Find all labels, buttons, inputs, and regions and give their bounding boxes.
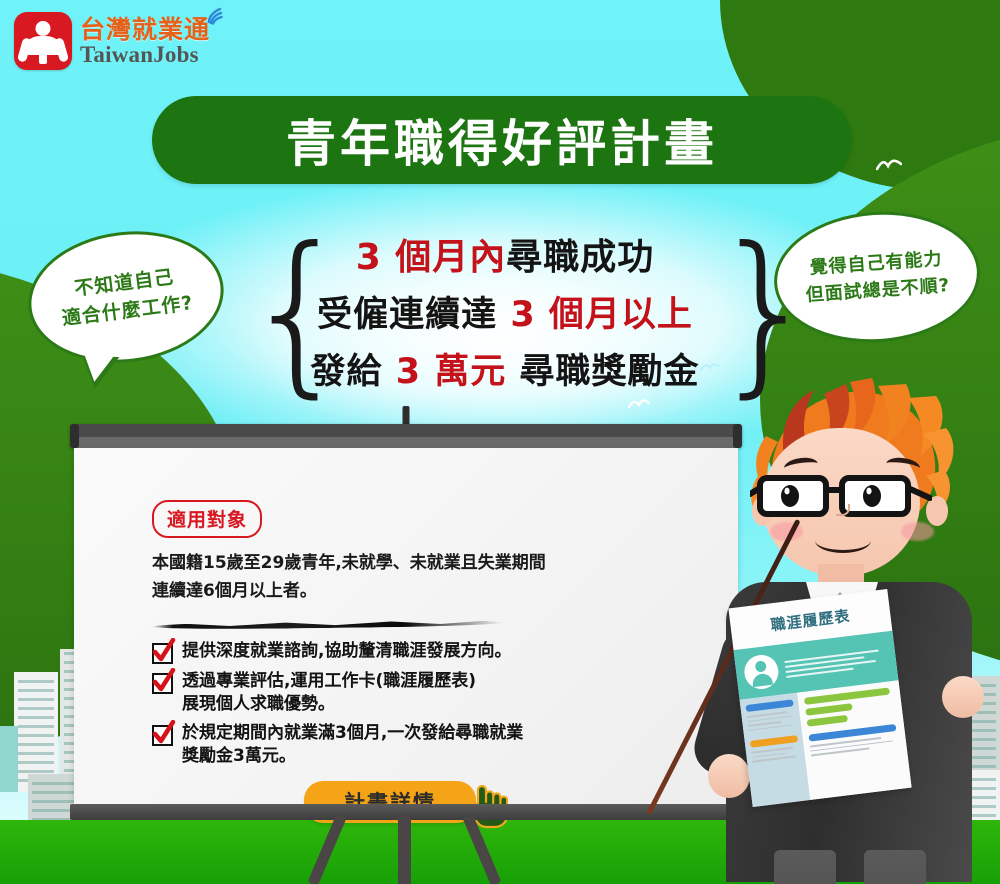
list-item: 提供深度就業諮詢,協助釐清職涯發展方向。: [152, 640, 738, 664]
page-title-banner: 青年職得好評計畫: [152, 96, 852, 184]
list-item-text-line1: 於規定期間內就業滿3個月,一次發給尋職就業: [182, 723, 523, 743]
list-item: 透過專業評估,運用工作卡(職涯履歷表) 展現個人求職優勢。: [152, 670, 738, 716]
checkbox-checked-icon: [152, 673, 173, 694]
highlight-line-3-post: 尋職獎勵金: [506, 352, 699, 392]
list-item-text-line1: 透過專業評估,運用工作卡(職涯履歷表): [182, 671, 476, 691]
eligibility-line-2: 連續達6個月以上者。: [152, 577, 738, 605]
mouth: [815, 528, 871, 553]
brand-name-cn: 台灣就業通: [80, 17, 210, 42]
highlight-line-1: 3 個月內尋職成功: [356, 228, 655, 280]
resume-body: [740, 680, 912, 807]
highlight-line-2-accent: 3 個月以上: [510, 295, 693, 335]
tripod-leg-center: [398, 816, 411, 884]
highlight-line-1-post: 尋職成功: [506, 237, 654, 278]
page-title: 青年職得好評計畫: [286, 104, 718, 176]
bubble-tail-inner: [84, 356, 113, 383]
highlight-lines: 3 個月內尋職成功 受僱連續達 3 個月以上 發給 3 萬元 尋職獎勵金: [255, 228, 755, 394]
trouser-left: [774, 850, 836, 884]
resume-right-column: [797, 680, 911, 800]
screen-hook: [403, 406, 410, 426]
eligibility-text: 本國籍15歲至29歲青年,未就學、未就業且失業期間 連續達6個月以上者。: [152, 549, 738, 605]
checkbox-checked-icon: [152, 725, 173, 746]
list-item: 於規定期間內就業滿3個月,一次發給尋職就業 獎勵金3萬元。: [152, 722, 738, 768]
checkbox-checked-icon: [152, 643, 173, 664]
hand-holding-resume: [942, 676, 984, 718]
list-item-text-line2: 獎勵金3萬元。: [182, 746, 296, 766]
highlight-line-2: 受僱連續達 3 個月以上: [317, 286, 693, 337]
building: [0, 726, 18, 792]
highlight-line-3-pre: 發給: [311, 352, 396, 392]
bird-icon: [876, 158, 902, 172]
eligibility-badge: 適用對象: [152, 500, 262, 538]
bird-icon: [628, 398, 650, 412]
eligibility-line-1: 本國籍15歲至29歲青年,未就學、未就業且失業期間: [152, 549, 738, 577]
career-resume-sheet: 職涯履歷表: [728, 589, 911, 807]
resume-header-lines: [784, 648, 888, 677]
list-item-text: 於規定期間內就業滿3個月,一次發給尋職就業 獎勵金3萬元。: [182, 722, 523, 768]
brush-divider: [152, 619, 504, 630]
projection-screen: 適用對象 本國籍15歲至29歲青年,未就學、未就業且失業期間 連續達6個月以上者…: [70, 424, 742, 836]
list-item-text-line2: 展現個人求職優勢。: [182, 694, 335, 714]
highlight-line-2-pre: 受僱連續達: [317, 295, 510, 335]
highlight-line-3-accent: 3 萬元: [396, 352, 507, 392]
hand-holding-pointer: [708, 754, 750, 798]
screen-roller-bar: [70, 424, 742, 448]
taiwanjobs-person-logo-icon: [14, 12, 72, 70]
trouser-right: [864, 850, 926, 884]
career-advisor-mascot: 職涯履歷表: [700, 376, 1000, 884]
wifi-signal-icon: [206, 7, 226, 29]
highlight-line-1-accent: 3 個月內: [356, 237, 507, 278]
brand-name-en: TaiwanJobs: [80, 43, 210, 66]
benefit-checklist: 提供深度就業諮詢,協助釐清職涯發展方向。 透過專業評估,運用工作卡(職涯履歷表)…: [152, 640, 738, 768]
list-item-text: 透過專業評估,運用工作卡(職涯履歷表) 展現個人求職優勢。: [182, 670, 476, 716]
list-item-text: 提供深度就業諮詢,協助釐清職涯發展方向。: [182, 640, 511, 663]
resume-title: 職涯履歷表: [769, 604, 851, 635]
brand-logo[interactable]: 台灣就業通 TaiwanJobs: [14, 12, 210, 70]
infographic-poster: COFFEE BARBER 台灣就業通 TaiwanJobs 青年職得好評計畫 …: [0, 0, 1000, 884]
highlight-line-3: 發給 3 萬元 尋職獎勵金: [311, 343, 700, 394]
cheek-right: [901, 522, 934, 541]
screen-canvas: 適用對象 本國籍15歲至29歲青年,未就學、未就業且失業期間 連續達6個月以上者…: [74, 448, 738, 804]
avatar: [742, 653, 780, 691]
